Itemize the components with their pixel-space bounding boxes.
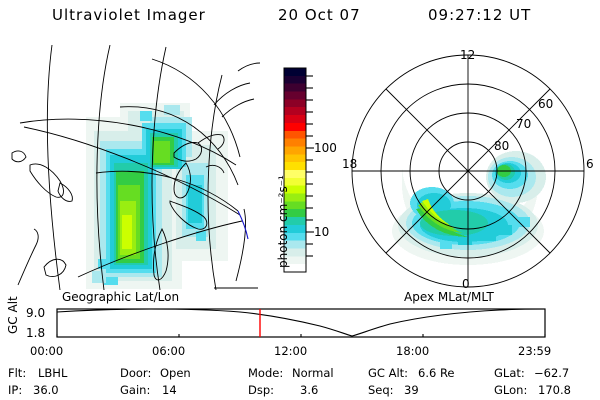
orbit-x-tick-4: 23:59 <box>518 344 551 358</box>
status-filt-value: LBHL <box>38 366 67 380</box>
status-dsp-value: 3.6 <box>300 383 318 397</box>
status-filt-label: Flt: <box>8 366 26 380</box>
status-gain-value: 14 <box>162 383 177 397</box>
polar-dial-svg <box>340 45 600 295</box>
orbit-altitude-svg <box>0 306 600 342</box>
geographic-map-panel[interactable] <box>0 45 262 290</box>
uvi-quicklook-page: Ultraviolet Imager 20 Oct 07 09:27:12 UT <box>0 0 600 400</box>
observation-date: 20 Oct 07 <box>278 6 361 24</box>
subsatellite-track <box>238 211 248 239</box>
colorbar-tick-low: 10 <box>314 225 329 239</box>
orbit-x-tick-3: 18:00 <box>396 344 429 358</box>
colorbar-tick-high: 100 <box>314 141 337 155</box>
orbit-x-tick-2: 12:00 <box>274 344 307 358</box>
status-glon-label: GLon: <box>494 383 527 397</box>
polar-dial-panel[interactable]: 12 18 6 0 60 70 80 <box>340 45 600 295</box>
status-seq-label: Seq: <box>368 383 394 397</box>
mlt-label-12: 12 <box>460 48 475 62</box>
orbit-y-tick-low: 1.8 <box>26 326 45 340</box>
status-glon-value: 170.8 <box>538 383 571 397</box>
aurora-emission-polar <box>392 151 546 265</box>
orbit-x-tick-0: 00:00 <box>30 344 63 358</box>
status-ip-value: 36.0 <box>33 383 59 397</box>
mlat-label-70: 70 <box>516 117 531 131</box>
status-mode-label: Mode: <box>248 366 283 380</box>
status-dsp-label: Dsp: <box>248 383 274 397</box>
mlt-label-6: 6 <box>586 157 594 171</box>
status-gcalt-label: GC Alt: <box>368 366 408 380</box>
status-gain-label: Gain: <box>120 383 150 397</box>
status-glat-value: −62.7 <box>534 366 569 380</box>
mlt-spokes <box>352 55 584 287</box>
status-seq-value: 39 <box>404 383 419 397</box>
status-glat-label: GLat: <box>494 366 525 380</box>
status-ip-label: IP: <box>8 383 22 397</box>
colorbar-axis-label: photon cm⁻²s⁻¹ <box>276 175 290 268</box>
status-door-label: Door: <box>120 366 151 380</box>
right-panel-caption: Apex MLat/MLT <box>404 290 494 304</box>
observation-time: 09:27:12 UT <box>428 6 531 24</box>
mlt-label-0: 0 <box>462 277 470 291</box>
status-gcalt-value: 6.6 Re <box>418 366 455 380</box>
orbit-y-tick-high: 9.0 <box>26 306 45 320</box>
status-panel: Flt: LBHL Door: Open Mode: Normal GC Alt… <box>0 366 600 400</box>
mlt-label-18: 18 <box>342 157 357 171</box>
mlat-label-80: 80 <box>494 139 509 153</box>
orbit-y-axis-label-top: GC Alt <box>6 296 20 334</box>
colorbar-ticks <box>306 76 314 256</box>
orbit-altitude-curve <box>57 309 545 336</box>
orbit-altitude-plot[interactable] <box>0 306 600 342</box>
geographic-map-svg <box>0 45 262 290</box>
status-door-value: Open <box>160 366 191 380</box>
status-mode-value: Normal <box>292 366 334 380</box>
instrument-title: Ultraviolet Imager <box>52 6 206 24</box>
left-panel-caption: Geographic Lat/Lon <box>62 290 179 304</box>
orbit-x-tick-1: 06:00 <box>152 344 185 358</box>
mlat-label-60: 60 <box>538 97 553 111</box>
orbit-plot-frame <box>57 309 545 337</box>
